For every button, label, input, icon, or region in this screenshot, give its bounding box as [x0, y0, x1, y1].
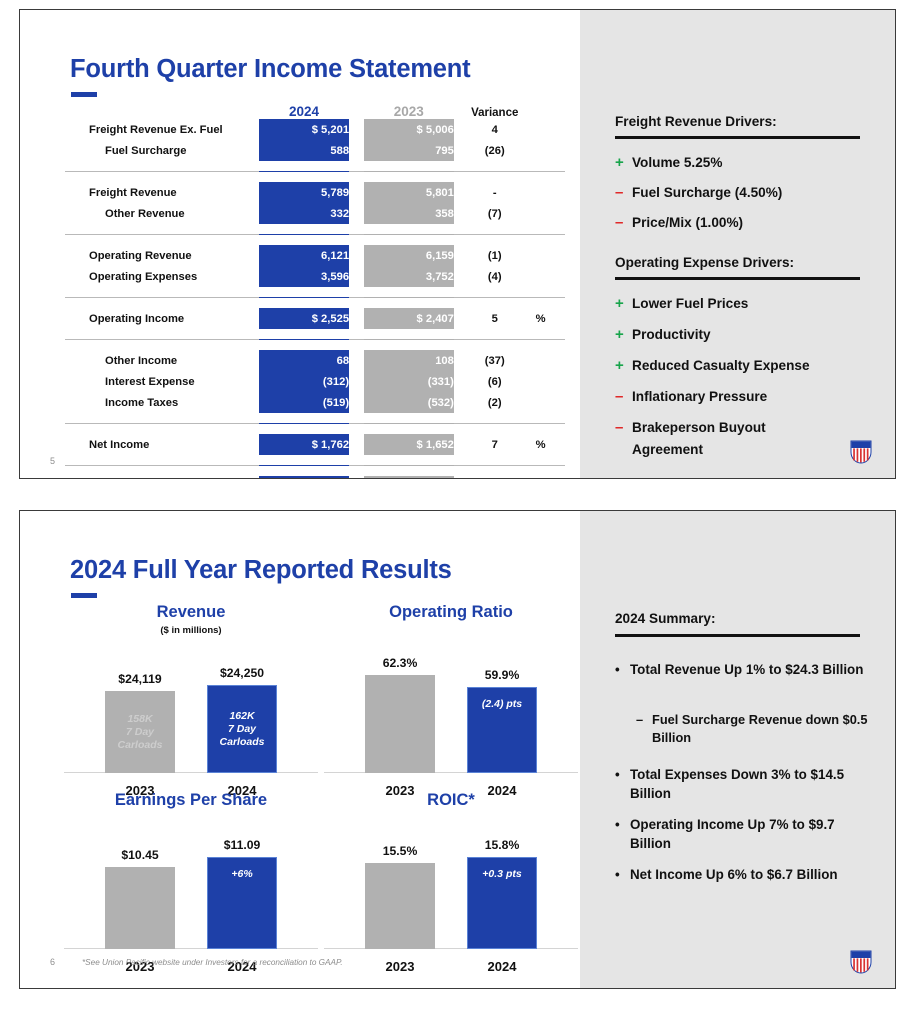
- chart-bar-group: 158K7 DayCarloads: [105, 691, 175, 773]
- title-underline-rule-2: [71, 593, 97, 598]
- cell-unit: [536, 245, 565, 266]
- page-number: 5: [50, 456, 55, 466]
- summary-bullet-text: Total Expenses Down 3% to $14.5 Billion: [630, 766, 877, 803]
- row-label: Weight AverageDiluted Shares: [65, 476, 259, 479]
- driver-item: +Volume 5.25%: [615, 154, 722, 171]
- row-separator: [65, 224, 565, 245]
- chart-axis-line: [64, 772, 318, 774]
- bullet-marker-icon: •: [615, 866, 630, 883]
- driver-item: +Reduced Casualty Expense: [615, 357, 810, 374]
- income-statement-table: 2024 2023 Variance Freight Revenue Ex. F…: [65, 98, 565, 479]
- summary-bullet: •Total Expenses Down 3% to $14.5 Billion: [615, 766, 877, 803]
- cell-2024: $ 2,525: [259, 308, 349, 329]
- chart-bar: [365, 863, 435, 949]
- cell-unit: [536, 476, 565, 479]
- driver-label: Reduced Casualty Expense: [632, 357, 810, 374]
- cell-gap: [349, 350, 364, 371]
- driver-item: –Price/Mix (1.00%): [615, 214, 743, 231]
- cell-2023: $ 1,652: [364, 434, 454, 455]
- row-label: Fuel Surcharge: [65, 140, 259, 161]
- cell-2024: 332: [259, 203, 349, 224]
- summary-bullet-text: Fuel Surcharge Revenue down $0.5 Billion: [652, 711, 876, 746]
- dash-marker-icon: –: [636, 711, 652, 728]
- page-number-2: 6: [50, 957, 55, 967]
- col-header-unit: [536, 98, 565, 119]
- page-title-2: 2024 Full Year Reported Results: [70, 556, 452, 585]
- row-label: Operating Expenses: [65, 266, 259, 287]
- cell-2024: (519): [259, 392, 349, 413]
- table-row: Other Revenue332358(7): [65, 203, 565, 224]
- operating-expense-drivers-heading: Operating Expense Drivers:: [615, 255, 794, 270]
- plus-icon: +: [615, 357, 632, 373]
- union-pacific-shield-logo: [850, 440, 872, 464]
- cell-gap: [349, 308, 364, 329]
- slide-income-statement: Fourth Quarter Income Statement 2024 202…: [19, 9, 896, 479]
- chart-bar: [365, 675, 435, 773]
- table-row: Operating Revenue6,1216,159(1): [65, 245, 565, 266]
- chart-axis-line: [64, 948, 318, 950]
- cell-variance: 7: [454, 434, 536, 455]
- title-underline-rule: [71, 92, 97, 97]
- bar-chart-roic: ROIC*2023202415.5%15.8%+0.3 pts: [320, 791, 582, 979]
- chart-axis-line: [324, 948, 578, 950]
- cell-variance: 5: [454, 308, 536, 329]
- driver-item: –Brakeperson Buyout: [615, 419, 766, 436]
- freight-revenue-drivers-heading: Freight Revenue Drivers:: [615, 114, 777, 129]
- chart-axis-line: [324, 772, 578, 774]
- row-label: Net Income: [65, 434, 259, 455]
- cell-unit: [536, 266, 565, 287]
- summary-bullet: •Total Revenue Up 1% to $24.3 Billion: [615, 661, 877, 680]
- row-label: Other Income: [65, 350, 259, 371]
- bar-chart-revenue: Revenue($ in millions)20232024$24,119158…: [60, 603, 322, 803]
- slide-2-body: 2024 Full Year Reported Results Revenue(…: [20, 511, 895, 988]
- slide-full-year-results: 2024 Full Year Reported Results Revenue(…: [19, 510, 896, 989]
- plus-icon: +: [615, 295, 632, 311]
- col-header-label: [65, 98, 259, 119]
- slide-1-right-pane: Freight Revenue Drivers: +Volume 5.25%–F…: [580, 10, 895, 478]
- driver-label: Agreement: [632, 441, 703, 458]
- opex-drivers-rule: [615, 277, 860, 280]
- cell-gap: [349, 140, 364, 161]
- slide-2-right-pane: 2024 Summary: •Total Revenue Up 1% to $2…: [580, 511, 895, 988]
- driver-label: Volume 5.25%: [632, 154, 722, 171]
- chart-category-label: 2024: [442, 959, 562, 974]
- chart-title: Earnings Per Share: [60, 791, 322, 810]
- cell-2024: 588: [259, 140, 349, 161]
- driver-item: +Productivity: [615, 326, 711, 343]
- cell-unit: [536, 392, 565, 413]
- cell-variance: (7): [454, 203, 536, 224]
- cell-gap: [349, 392, 364, 413]
- cell-gap: [349, 245, 364, 266]
- cell-variance: (1): [454, 476, 536, 479]
- row-label: Freight Revenue Ex. Fuel: [65, 119, 259, 140]
- row-label: Income Taxes: [65, 392, 259, 413]
- cell-2023: $ 5,006: [364, 119, 454, 140]
- chart-bar-group: +6%: [207, 857, 277, 949]
- bullet-marker-icon: •: [615, 766, 630, 783]
- chart-bar: +6%: [207, 857, 277, 949]
- chart-bar-annotation: (2.4) pts: [468, 698, 536, 711]
- cell-variance: (4): [454, 266, 536, 287]
- col-header-variance: Variance: [454, 98, 536, 119]
- cell-2024: 6,121: [259, 245, 349, 266]
- cell-unit: %: [536, 434, 565, 455]
- chart-bar-value-label: 15.8%: [442, 838, 562, 852]
- cell-2023: 108: [364, 350, 454, 371]
- table-row: Operating Expenses3,5963,752(4): [65, 266, 565, 287]
- chart-bar-group: [105, 867, 175, 949]
- cell-variance: -: [454, 182, 536, 203]
- footnote: *See Union Pacific website under Investo…: [82, 958, 343, 967]
- cell-unit: [536, 371, 565, 392]
- col-header-2024: 2024: [259, 98, 349, 119]
- driver-label: Fuel Surcharge (4.50%): [632, 184, 782, 201]
- summary-rule: [615, 634, 860, 637]
- chart-bar-annotation: 158K7 DayCarloads: [105, 713, 175, 752]
- driver-label: Price/Mix (1.00%): [632, 214, 743, 231]
- chart-bar-group: [365, 675, 435, 773]
- bullet-marker-icon: •: [615, 661, 630, 678]
- minus-icon: –: [615, 388, 632, 404]
- cell-2023: 609.9: [364, 476, 454, 479]
- summary-bullet-text: Total Revenue Up 1% to $24.3 Billion: [630, 661, 863, 680]
- cell-variance: 4: [454, 119, 536, 140]
- chart-bar: (2.4) pts: [467, 687, 537, 773]
- slide-2-left-pane: 2024 Full Year Reported Results Revenue(…: [20, 511, 580, 988]
- chart-subtitle: ($ in millions): [60, 625, 322, 636]
- cell-gap: [349, 266, 364, 287]
- chart-bar-group: +0.3 pts: [467, 857, 537, 949]
- summary-bullet-text: Net Income Up 6% to $6.7 Billion: [630, 866, 838, 885]
- driver-item: Agreement: [632, 441, 703, 458]
- page-title: Fourth Quarter Income Statement: [70, 55, 470, 84]
- slide-1-body: Fourth Quarter Income Statement 2024 202…: [20, 10, 895, 478]
- chart-bar: 162K7 DayCarloads: [207, 685, 277, 773]
- cell-variance: (2): [454, 392, 536, 413]
- chart-bar: [105, 867, 175, 949]
- chart-plot-area: $10.45$11.09+6%: [60, 833, 322, 949]
- cell-2023: 6,159: [364, 245, 454, 266]
- cell-unit: [536, 350, 565, 371]
- row-label: Operating Revenue: [65, 245, 259, 266]
- cell-2024: $ 1,762: [259, 434, 349, 455]
- chart-bar-annotation: +0.3 pts: [468, 868, 536, 881]
- plus-icon: +: [615, 326, 632, 342]
- chart-title: Revenue: [60, 603, 322, 622]
- cell-gap: [349, 371, 364, 392]
- driver-label: Lower Fuel Prices: [632, 295, 748, 312]
- cell-variance: (26): [454, 140, 536, 161]
- chart-bar-value-label: $11.09: [182, 838, 302, 852]
- cell-2023: (532): [364, 392, 454, 413]
- table-row: Other Income68108(37): [65, 350, 565, 371]
- summary-sub-bullet: –Fuel Surcharge Revenue down $0.5 Billio…: [636, 711, 876, 746]
- table-row: Income Taxes(519)(532)(2): [65, 392, 565, 413]
- cell-gap: [349, 119, 364, 140]
- chart-bar-group: [365, 863, 435, 949]
- summary-bullet: •Net Income Up 6% to $6.7 Billion: [615, 866, 877, 885]
- cell-unit: %: [536, 308, 565, 329]
- minus-icon: –: [615, 184, 632, 200]
- row-separator: [65, 413, 565, 434]
- table-row: Net Income$ 1,762$ 1,6527%: [65, 434, 565, 455]
- row-separator: [65, 287, 565, 308]
- chart-bar: 158K7 DayCarloads: [105, 691, 175, 773]
- cell-unit: [536, 203, 565, 224]
- row-label: Other Revenue: [65, 203, 259, 224]
- cell-unit: [536, 182, 565, 203]
- cell-2024: (312): [259, 371, 349, 392]
- summary-bullet-text: Operating Income Up 7% to $9.7 Billion: [630, 816, 877, 853]
- row-separator: [65, 161, 565, 182]
- cell-gap: [349, 203, 364, 224]
- bar-chart-operating-ratio: Operating Ratio2023202462.3%59.9%(2.4) p…: [320, 603, 582, 803]
- driver-item: +Lower Fuel Prices: [615, 295, 748, 312]
- row-label: Operating Income: [65, 308, 259, 329]
- cell-2024: 3,596: [259, 266, 349, 287]
- bar-chart-earnings-per-share: Earnings Per Share20232024$10.45$11.09+6…: [60, 791, 322, 979]
- cell-2024: $ 5,201: [259, 119, 349, 140]
- cell-unit: [536, 119, 565, 140]
- cell-variance: (37): [454, 350, 536, 371]
- table-body: Freight Revenue Ex. Fuel$ 5,201$ 5,0064F…: [65, 119, 565, 479]
- chart-bar-group: 162K7 DayCarloads: [207, 685, 277, 773]
- driver-item: –Inflationary Pressure: [615, 388, 767, 405]
- cell-unit: [536, 140, 565, 161]
- chart-bar-value-label: $24,250: [182, 666, 302, 680]
- chart-bar-value-label: 59.9%: [442, 668, 562, 682]
- col-header-2023: 2023: [364, 98, 454, 119]
- table-row: Operating Income$ 2,525$ 2,4075%: [65, 308, 565, 329]
- chart-title: Operating Ratio: [320, 603, 582, 622]
- freight-drivers-rule: [615, 136, 860, 139]
- driver-label: Productivity: [632, 326, 711, 343]
- cell-2023: 5,801: [364, 182, 454, 203]
- summary-heading: 2024 Summary:: [615, 611, 716, 626]
- row-separator: [65, 329, 565, 350]
- cell-gap: [349, 476, 364, 479]
- table-row: Weight AverageDiluted Shares605.2609.9(1…: [65, 476, 565, 479]
- plus-icon: +: [615, 154, 632, 170]
- chart-title: ROIC*: [320, 791, 582, 810]
- chart-bar-annotation: 162K7 DayCarloads: [208, 710, 276, 749]
- minus-icon: –: [615, 214, 632, 230]
- cell-gap: [349, 182, 364, 203]
- cell-2024: 68: [259, 350, 349, 371]
- row-label: Freight Revenue: [65, 182, 259, 203]
- table-row: Fuel Surcharge588795(26): [65, 140, 565, 161]
- cell-2023: 795: [364, 140, 454, 161]
- chart-bar-group: (2.4) pts: [467, 687, 537, 773]
- cell-variance: (1): [454, 245, 536, 266]
- cell-2023: (331): [364, 371, 454, 392]
- row-separator: [65, 455, 565, 476]
- union-pacific-shield-logo-2: [850, 950, 872, 974]
- chart-plot-area: 15.5%15.8%+0.3 pts: [320, 833, 582, 949]
- row-label: Interest Expense: [65, 371, 259, 392]
- minus-icon: –: [615, 419, 632, 435]
- chart-plot-area: $24,119158K7 DayCarloads$24,250162K7 Day…: [60, 655, 322, 773]
- cell-variance: (6): [454, 371, 536, 392]
- slide-1-left-pane: Fourth Quarter Income Statement 2024 202…: [20, 10, 580, 478]
- cell-2023: 358: [364, 203, 454, 224]
- cell-2023: $ 2,407: [364, 308, 454, 329]
- table-row: Freight Revenue5,7895,801-: [65, 182, 565, 203]
- table-row: Freight Revenue Ex. Fuel$ 5,201$ 5,0064: [65, 119, 565, 140]
- cell-2023: 3,752: [364, 266, 454, 287]
- table-row: Interest Expense(312)(331)(6): [65, 371, 565, 392]
- driver-item: –Fuel Surcharge (4.50%): [615, 184, 782, 201]
- col-header-spacer: [349, 98, 364, 119]
- chart-bar: +0.3 pts: [467, 857, 537, 949]
- chart-bar-annotation: +6%: [208, 868, 276, 881]
- cell-2024: 5,789: [259, 182, 349, 203]
- table-header: 2024 2023 Variance: [65, 98, 565, 119]
- driver-label: Brakeperson Buyout: [632, 419, 766, 436]
- chart-plot-area: 62.3%59.9%(2.4) pts: [320, 655, 582, 773]
- summary-bullet: •Operating Income Up 7% to $9.7 Billion: [615, 816, 877, 853]
- cell-gap: [349, 434, 364, 455]
- driver-label: Inflationary Pressure: [632, 388, 767, 405]
- cell-2024: 605.2: [259, 476, 349, 479]
- bullet-marker-icon: •: [615, 816, 630, 833]
